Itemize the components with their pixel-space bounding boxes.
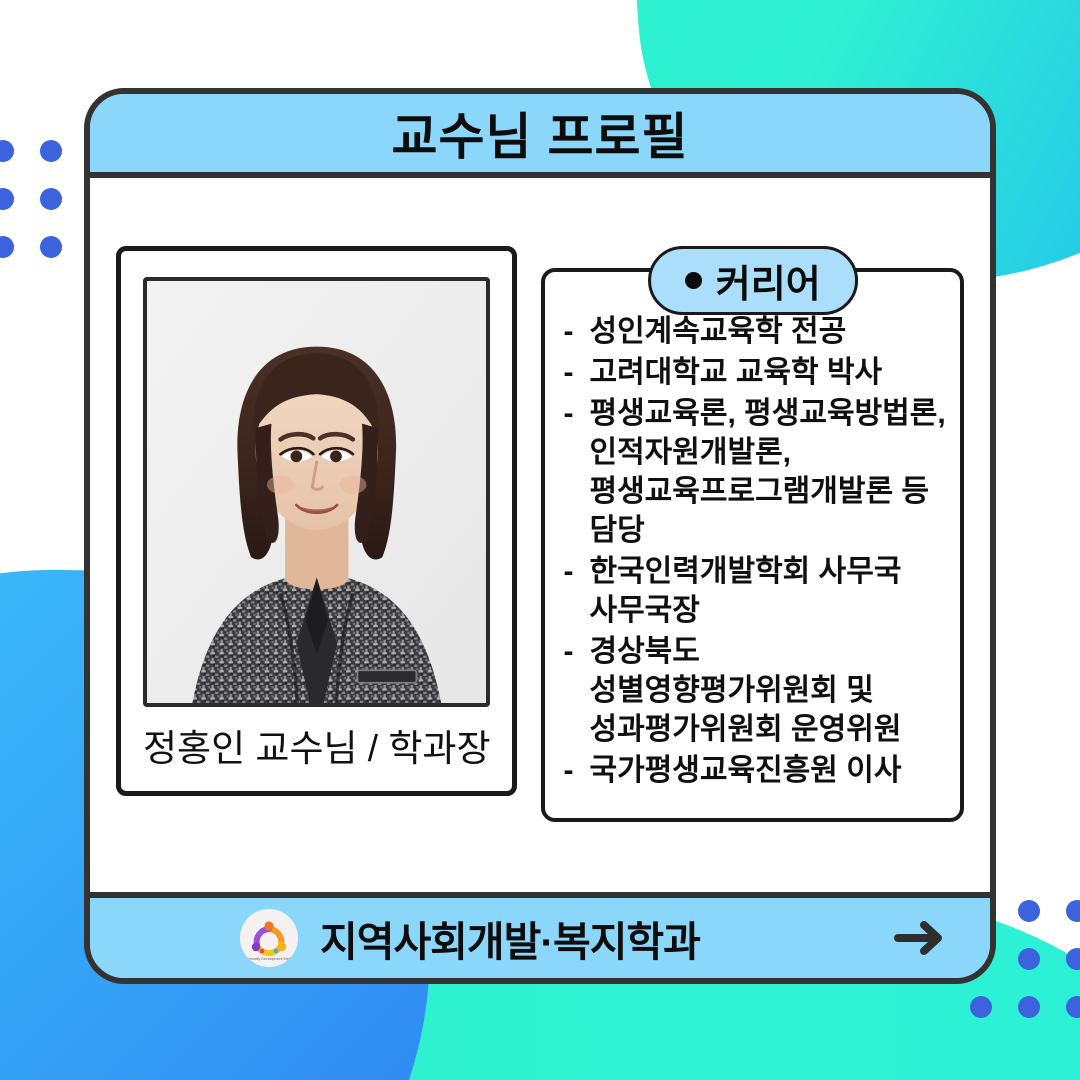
list-item: 평생교육론, 평생교육방법론, 인적자원개발론, 평생교육프로그램개발론 등 담… (559, 394, 946, 550)
photo-frame (143, 277, 490, 707)
card-footer: Community Development Welfare 지역사회개발·복지학… (90, 892, 990, 978)
professor-name-caption: 정홍인 교수님 / 학과장 (143, 721, 490, 781)
next-arrow-button[interactable] (894, 918, 948, 958)
photo-block: 정홍인 교수님 / 학과장 (116, 246, 517, 796)
card-header: 교수님 프로필 (90, 94, 990, 178)
career-badge-label: 커리어 (716, 253, 821, 308)
logo-figures-icon: Community Development Welfare (240, 909, 298, 967)
dot (1066, 900, 1080, 922)
dot (1066, 996, 1080, 1018)
career-block: 커리어 성인계속교육학 전공 고려대학교 교육학 박사 평생교육론, 평생교육방… (541, 246, 964, 892)
card-body: 정홍인 교수님 / 학과장 커리어 성인계속교육학 전공 고려대학교 교육학 박… (90, 178, 990, 892)
professor-portrait (147, 281, 486, 707)
career-badge: 커리어 (648, 246, 858, 315)
department-logo-icon: Community Development Welfare (240, 909, 298, 967)
bullet-dot-icon (685, 272, 702, 289)
career-box: 성인계속교육학 전공 고려대학교 교육학 박사 평생교육론, 평생교육방법론, … (541, 268, 964, 822)
dot (970, 996, 992, 1018)
logo-caption: Community Development Welfare (242, 957, 296, 961)
dot (0, 236, 14, 258)
dot (1066, 948, 1080, 970)
dot (0, 188, 14, 210)
dot (1018, 948, 1040, 970)
dot (40, 188, 62, 210)
dot (0, 140, 14, 162)
list-item: 한국인력개발학회 사무국 사무국장 (559, 552, 946, 630)
profile-card: 교수님 프로필 (84, 88, 996, 984)
dot (40, 140, 62, 162)
department-name: 지역사회개발·복지학과 (320, 908, 700, 968)
dot (1018, 996, 1040, 1018)
list-item: 성인계속교육학 전공 (559, 312, 946, 351)
dot (1018, 900, 1040, 922)
dot (40, 236, 62, 258)
page-title: 교수님 프로필 (392, 97, 689, 169)
list-item: 국가평생교육진흥원 이사 (559, 751, 946, 790)
career-list: 성인계속교육학 전공 고려대학교 교육학 박사 평생교육론, 평생교육방법론, … (559, 312, 946, 790)
arrow-right-icon (894, 918, 948, 958)
list-item: 경상북도 성별영향평가위원회 및 성과평가위원회 운영위원 (559, 632, 946, 749)
list-item: 고려대학교 교육학 박사 (559, 353, 946, 392)
